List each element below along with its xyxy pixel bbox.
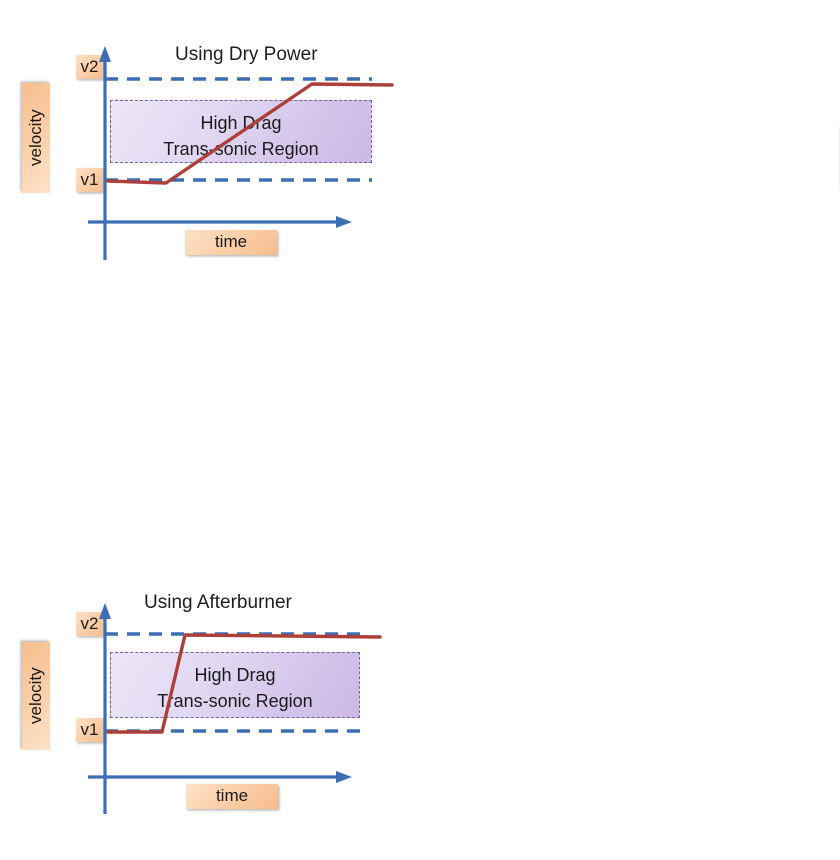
- high-drag-band-text: High Drag Trans-sonic Region: [110, 662, 360, 714]
- chart-dry-power: Using Dry Power velocity v2 v1 High Drag…: [0, 0, 420, 290]
- drag-velocity-plot: [420, 0, 840, 320]
- y-axis-label-velocity: velocity: [22, 642, 50, 750]
- chart-drag-velocity: drag Subsonic Trans-sonic Super-sonic v1…: [420, 0, 840, 320]
- x-axis-arrow: [336, 216, 352, 228]
- y-tick-v1: v1: [76, 718, 103, 742]
- fuel-thrust-plot: [420, 310, 840, 580]
- velocity-curve: [108, 84, 392, 183]
- x-axis-label-time: time: [185, 230, 277, 255]
- x-axis-label-time: time: [186, 784, 278, 809]
- y-axis-arrow: [99, 603, 111, 619]
- chart-title-afterburner: Using Afterburner: [144, 592, 292, 614]
- chart-fuel-thrust: Fuel consumption per sec Afterburner Dry…: [420, 310, 840, 580]
- chart-afterburner: Using Afterburner velocity v2 v1 High Dr…: [0, 290, 420, 550]
- y-axis-arrow: [99, 46, 111, 62]
- band-line-2: Trans-sonic Region: [110, 688, 360, 714]
- afterburner-plot: [0, 290, 420, 550]
- band-line-1: High Drag: [110, 662, 360, 688]
- y-tick-v2: v2: [76, 612, 103, 636]
- x-axis-arrow: [336, 771, 352, 783]
